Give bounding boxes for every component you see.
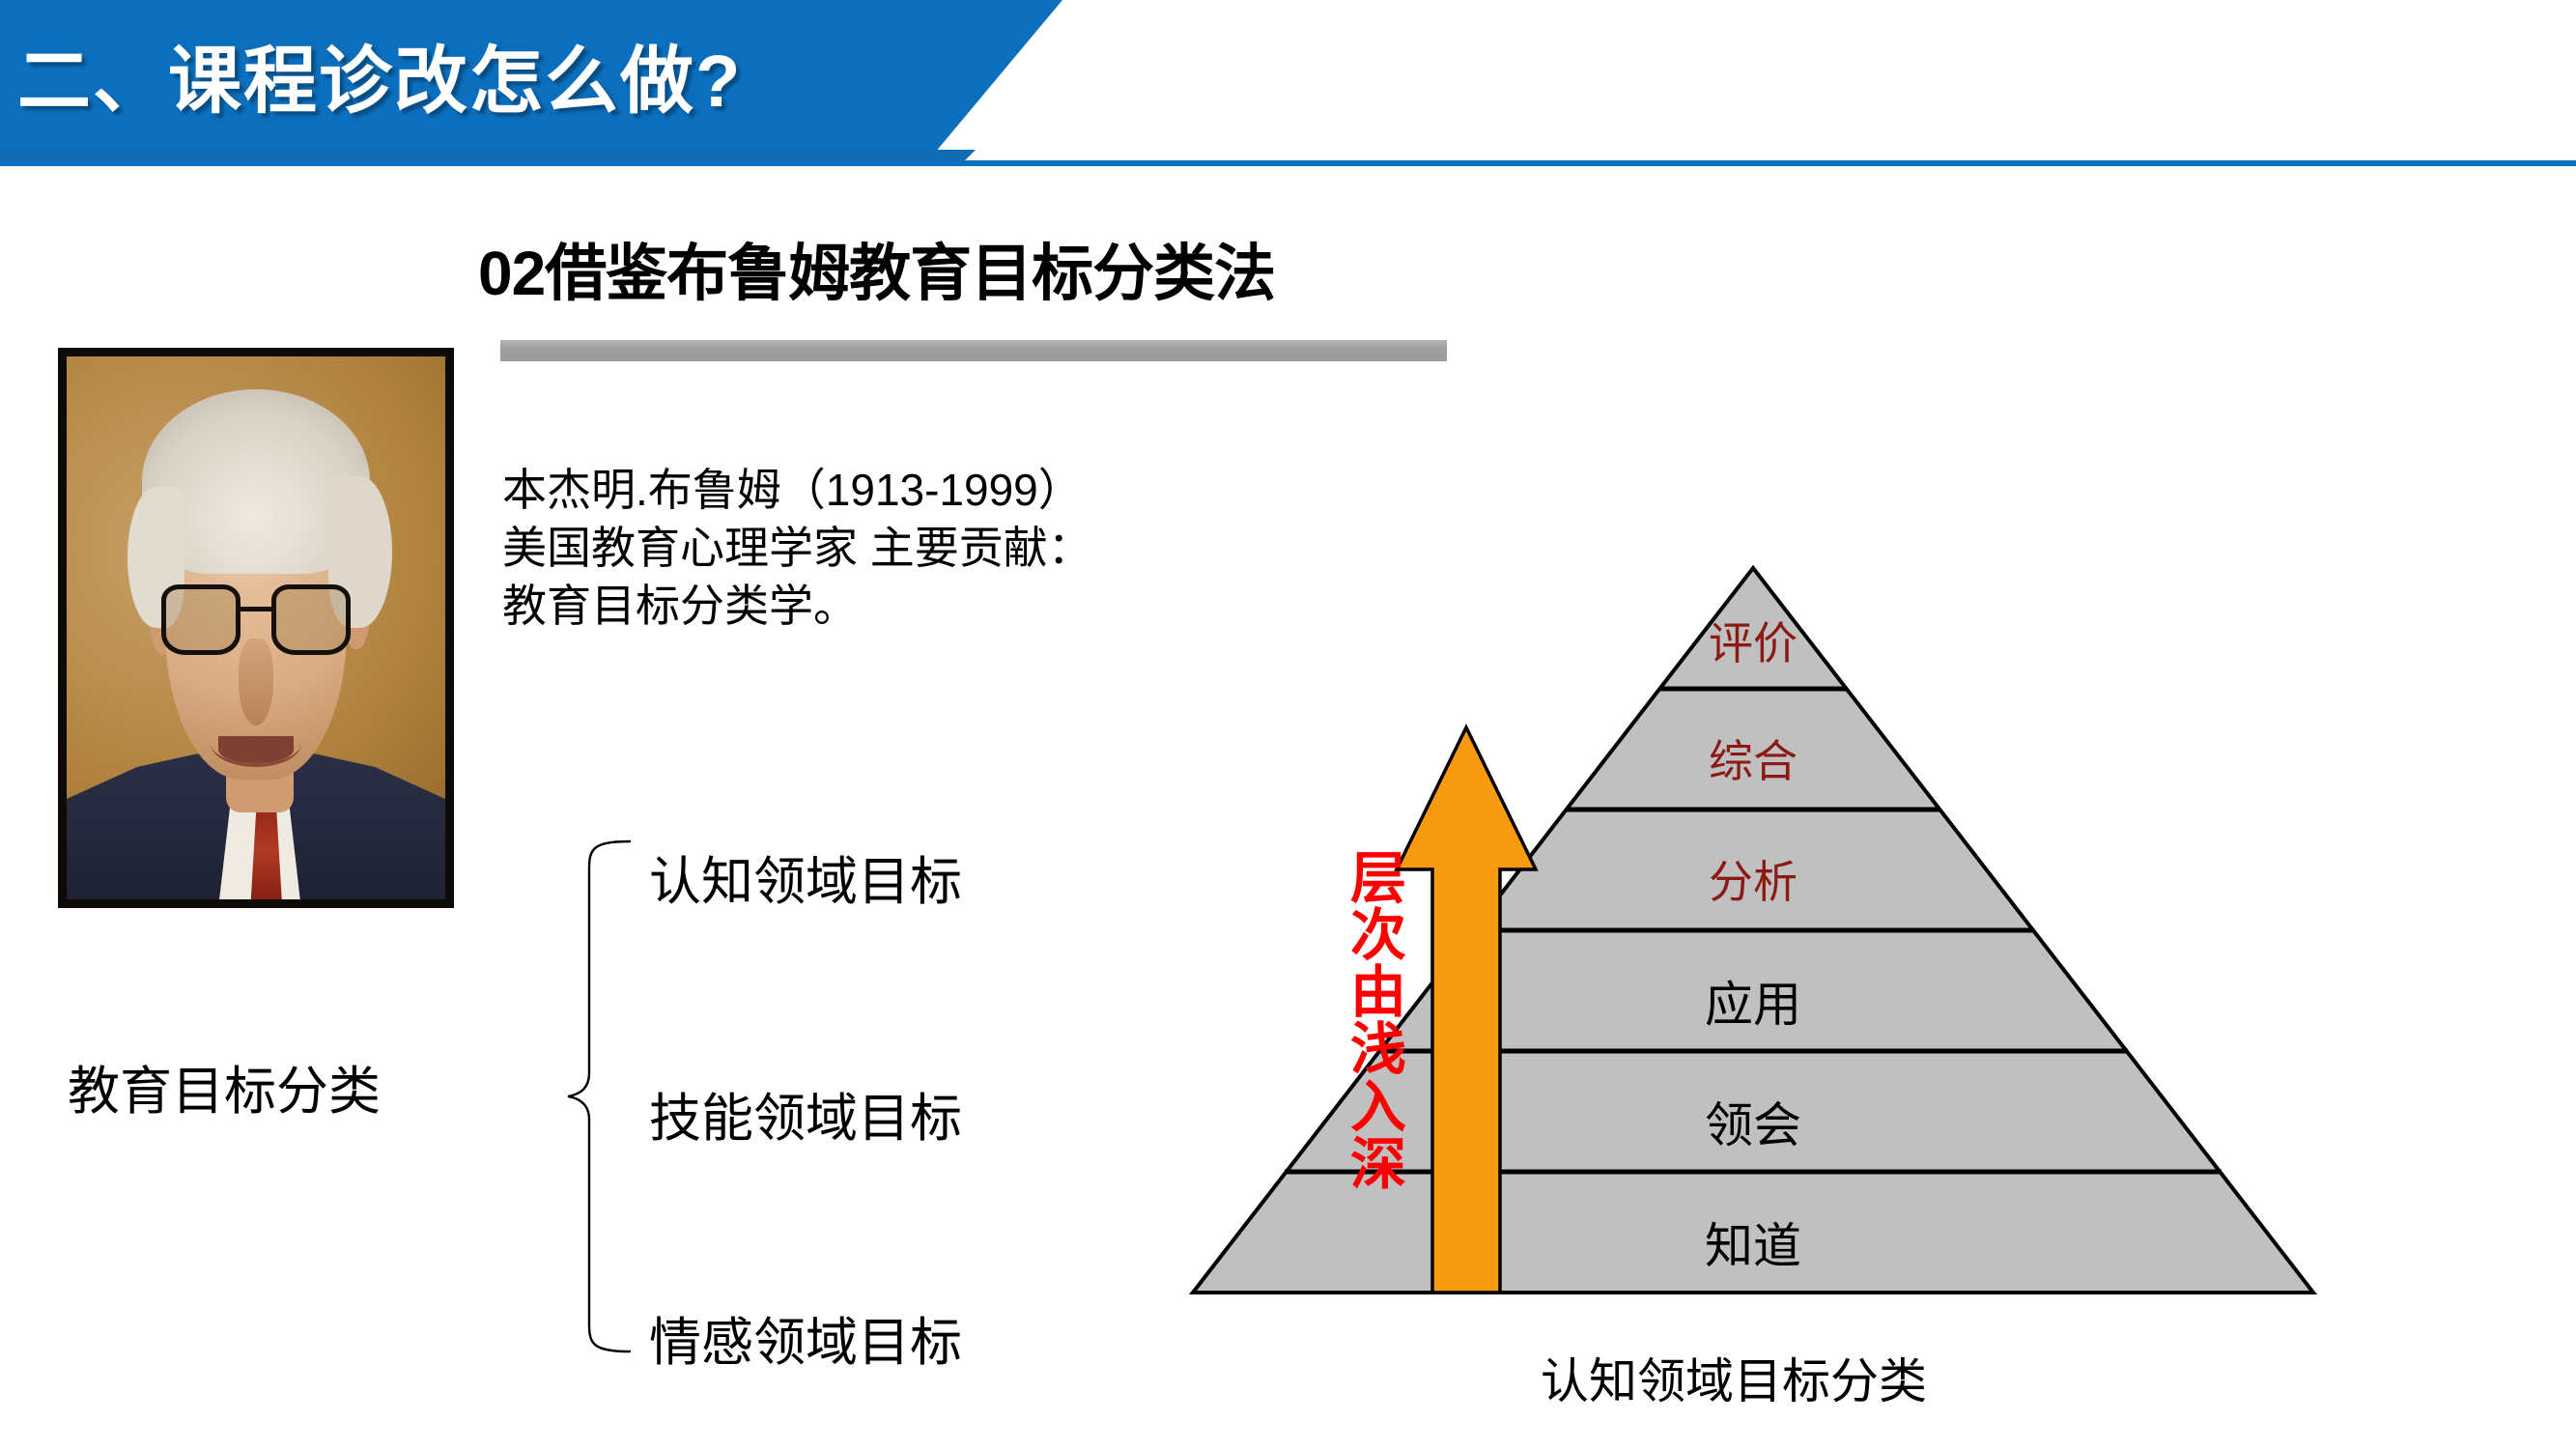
arrow-caption-char-1: 次 bbox=[1343, 907, 1414, 964]
slide-root: 二、课程诊改怎么做? 02借鉴布鲁姆教育目标分类法 本杰明.布鲁姆（1913-1… bbox=[0, 0, 2576, 1450]
glasses-icon bbox=[161, 584, 351, 655]
arrow-caption-char-4: 入 bbox=[1343, 1079, 1414, 1136]
section-title: 02借鉴布鲁姆教育目标分类法 bbox=[478, 224, 1275, 313]
classification-item-skill: 技能领域目标 bbox=[649, 1075, 962, 1151]
arrow-caption-char-5: 深 bbox=[1343, 1136, 1414, 1193]
section-title-underline bbox=[500, 340, 1447, 361]
bloom-portrait-photo bbox=[58, 348, 454, 908]
classification-item-cognitive: 认知领域目标 bbox=[649, 839, 962, 915]
bloom-biography-text: 本杰明.布鲁姆（1913-1999） 美国教育心理学家 主要贡献： 教育目标分类… bbox=[502, 462, 1092, 635]
header-rule-line bbox=[0, 160, 2576, 166]
classification-label: 教育目标分类 bbox=[68, 1048, 381, 1124]
pyramid-level-knowledge: 知道 bbox=[1666, 1208, 1840, 1277]
pyramid-level-comprehension: 领会 bbox=[1666, 1087, 1840, 1156]
arrow-caption-char-3: 浅 bbox=[1343, 1021, 1414, 1078]
pyramid-caption: 认知领域目标分类 bbox=[1541, 1343, 1927, 1412]
curly-brace-icon bbox=[529, 836, 636, 1357]
glasses-bridge bbox=[241, 607, 270, 611]
arrow-caption-char-2: 由 bbox=[1343, 964, 1414, 1021]
arrow-caption-char-0: 层 bbox=[1343, 850, 1414, 907]
glasses-lens-right bbox=[271, 584, 351, 655]
header-title: 二、课程诊改怎么做? bbox=[17, 21, 742, 128]
pyramid-level-analysis: 分析 bbox=[1666, 847, 1840, 911]
pyramid-level-synthesis: 综合 bbox=[1666, 726, 1840, 790]
pyramid-level-evaluation: 评价 bbox=[1666, 609, 1840, 672]
classification-item-affective: 情感领域目标 bbox=[649, 1299, 962, 1376]
pyramid-level-application: 应用 bbox=[1666, 966, 1840, 1036]
glasses-lens-left bbox=[161, 584, 241, 655]
arrow-caption-vertical: 层 次 由 浅 入 深 bbox=[1343, 850, 1414, 1193]
